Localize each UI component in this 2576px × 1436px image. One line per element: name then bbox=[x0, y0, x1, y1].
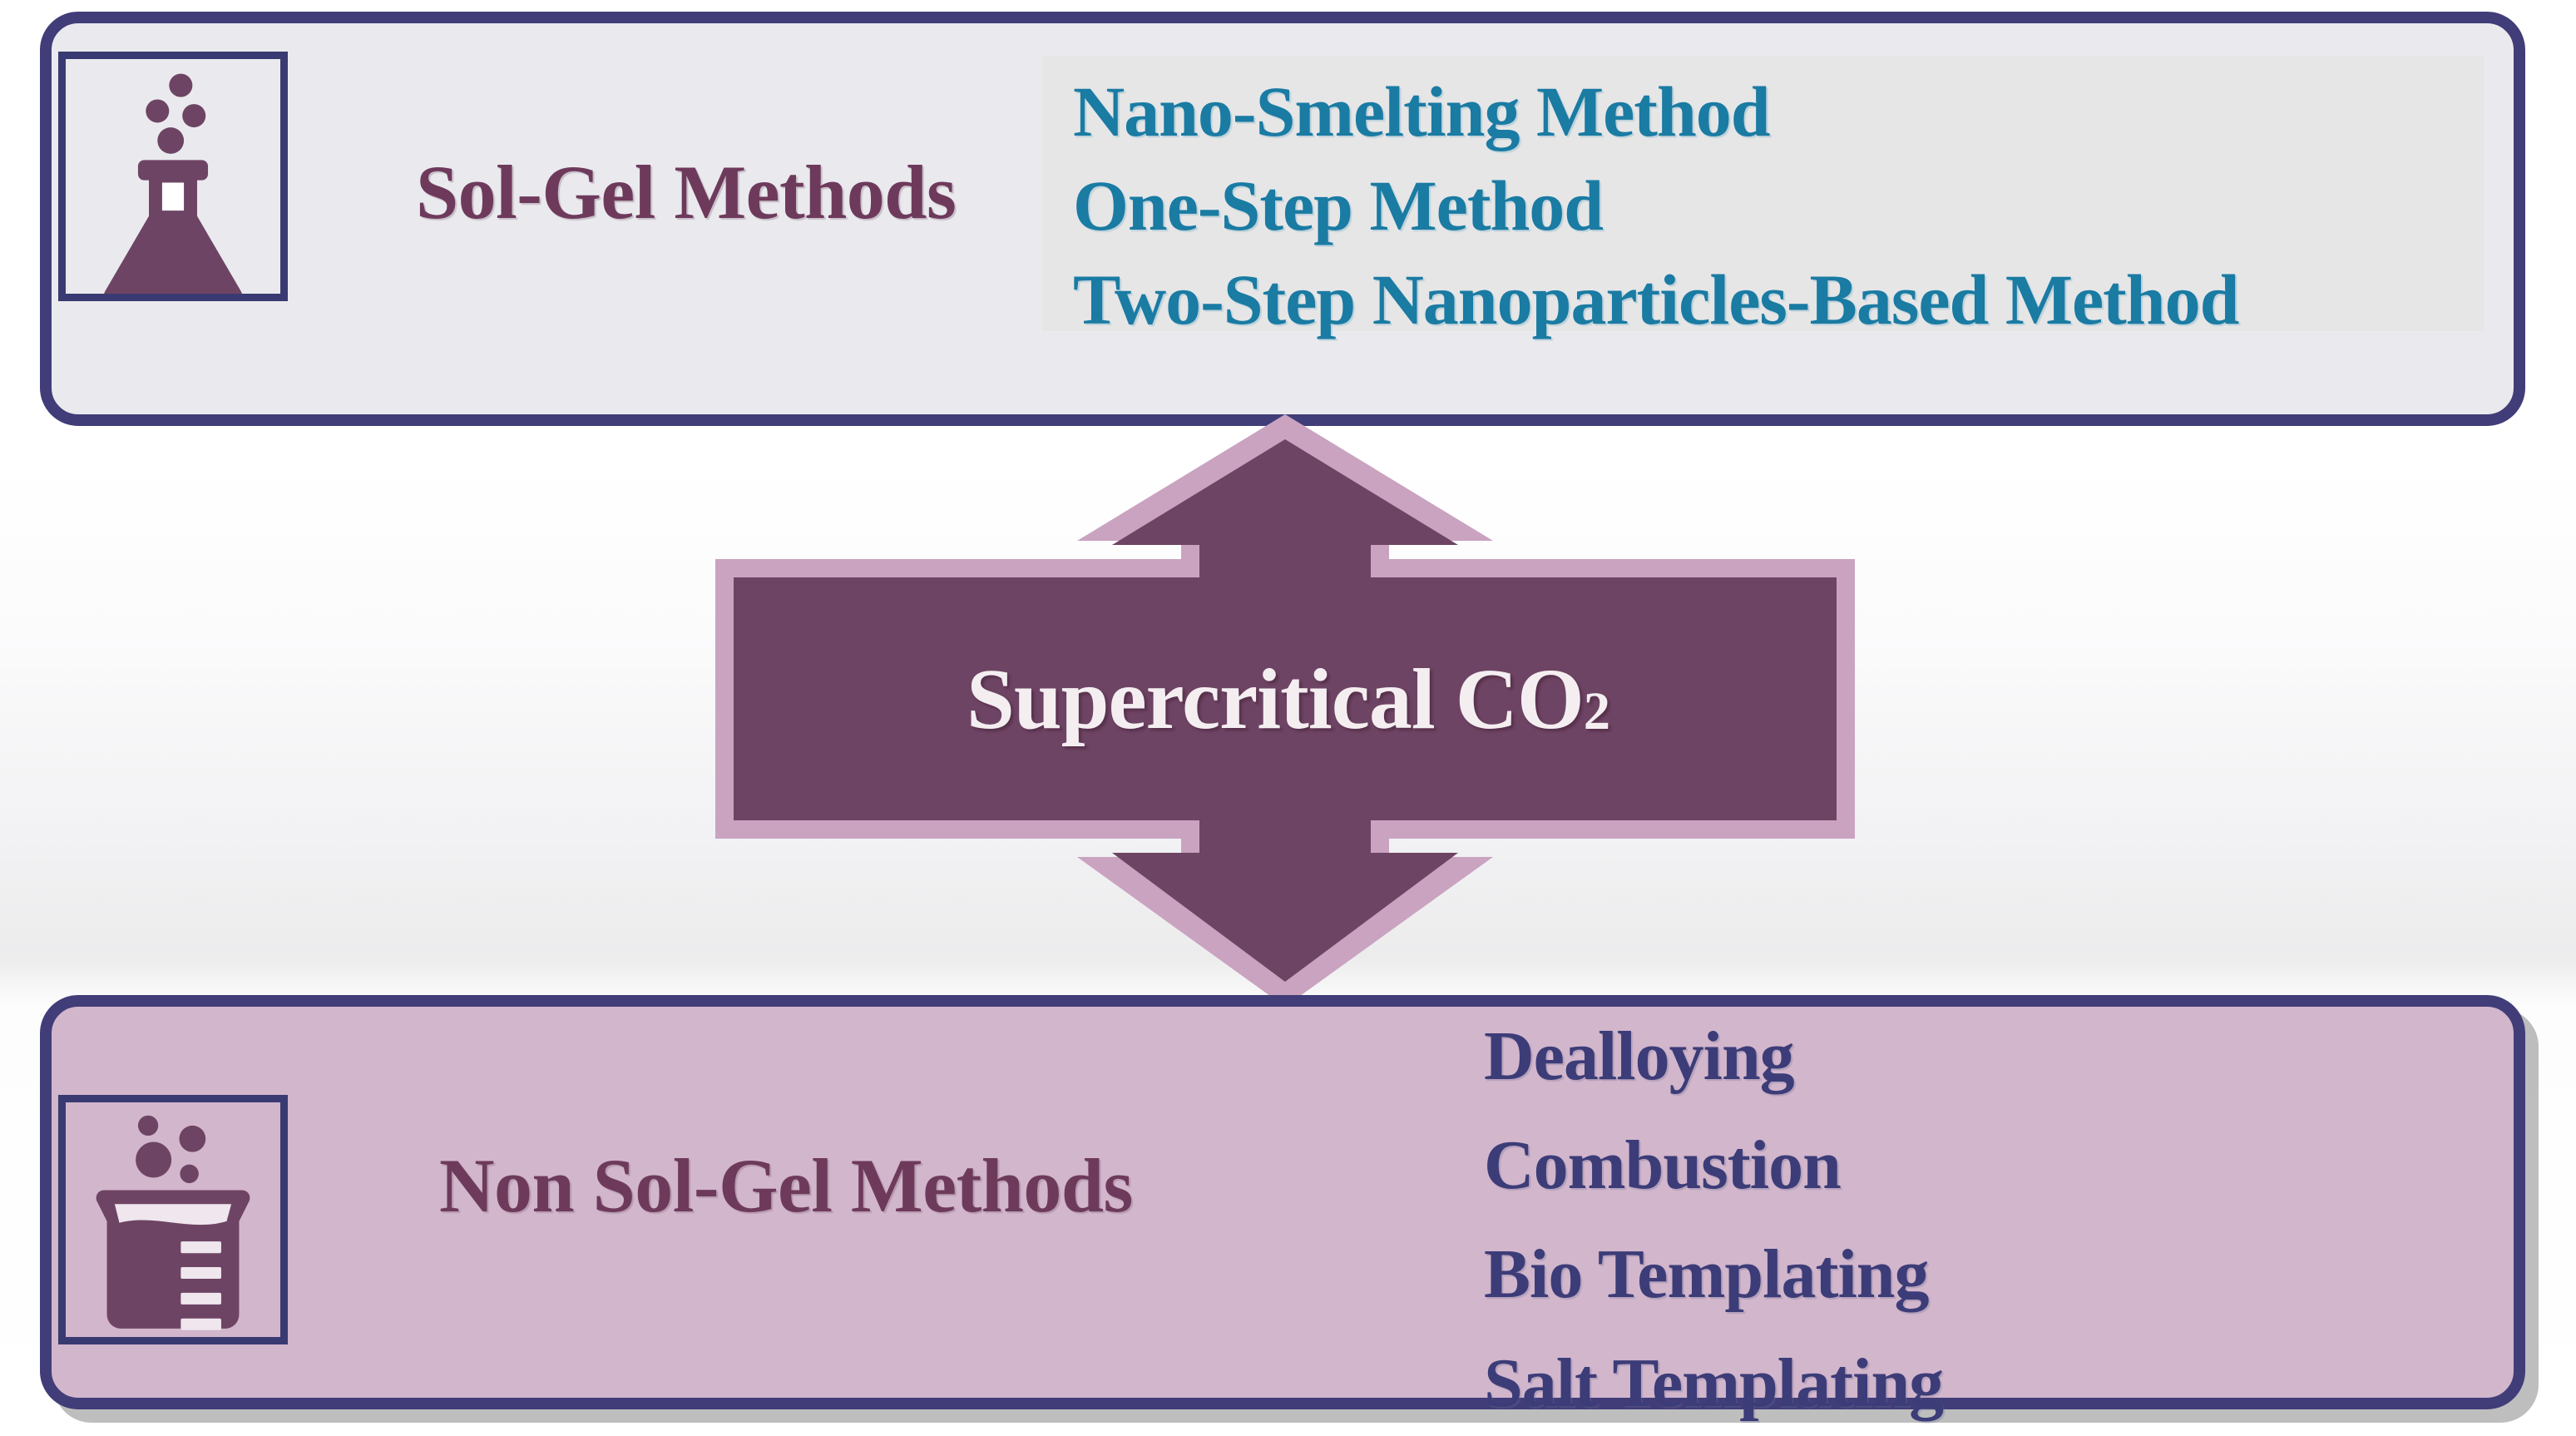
list-item: Dealloying bbox=[1484, 1002, 1943, 1111]
list-item: Two-Step Nanoparticles-Based Method bbox=[1073, 253, 2238, 347]
list-item: Nano-Smelting Method bbox=[1073, 65, 2238, 159]
list-item: One-Step Method bbox=[1073, 159, 2238, 253]
list-item: Salt Templating bbox=[1484, 1329, 1943, 1436]
non-sol-gel-method-list: Dealloying Combustion Bio Templating Sal… bbox=[1484, 1002, 1943, 1436]
list-item: Combustion bbox=[1484, 1111, 1943, 1220]
sol-gel-method-list: Nano-Smelting Method One-Step Method Two… bbox=[1073, 65, 2238, 347]
list-item: Bio Templating bbox=[1484, 1220, 1943, 1329]
diagram-canvas: Sol-Gel Methods Nano-Smelting Method One… bbox=[0, 0, 2576, 1436]
non-sol-gel-category-label: Non Sol-Gel Methods bbox=[439, 1141, 1133, 1230]
graduated-beaker-icon bbox=[58, 1095, 288, 1344]
erlenmeyer-flask-icon bbox=[58, 52, 288, 301]
non-sol-gel-methods-panel bbox=[40, 995, 2525, 1409]
sol-gel-category-label: Sol-Gel Methods bbox=[416, 148, 956, 236]
supercritical-co2-double-arrow bbox=[715, 414, 1855, 1007]
